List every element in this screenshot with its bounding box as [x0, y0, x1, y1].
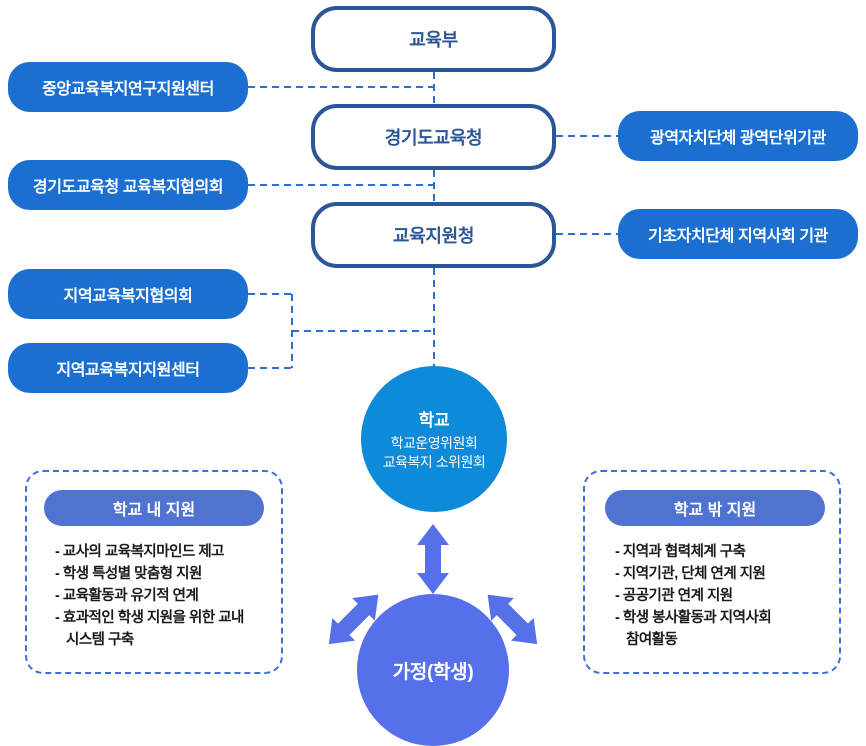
school-family-arrow: [417, 524, 449, 594]
org-chart-diagram: 교육부 경기도교육청 교육지원청 중앙교육복지연구지원센터 경기도교육청 교육복…: [0, 0, 866, 745]
family-inschool-arrow: [318, 583, 390, 655]
arrows-layer: [0, 0, 866, 745]
family-outschool-arrow: [476, 583, 548, 655]
